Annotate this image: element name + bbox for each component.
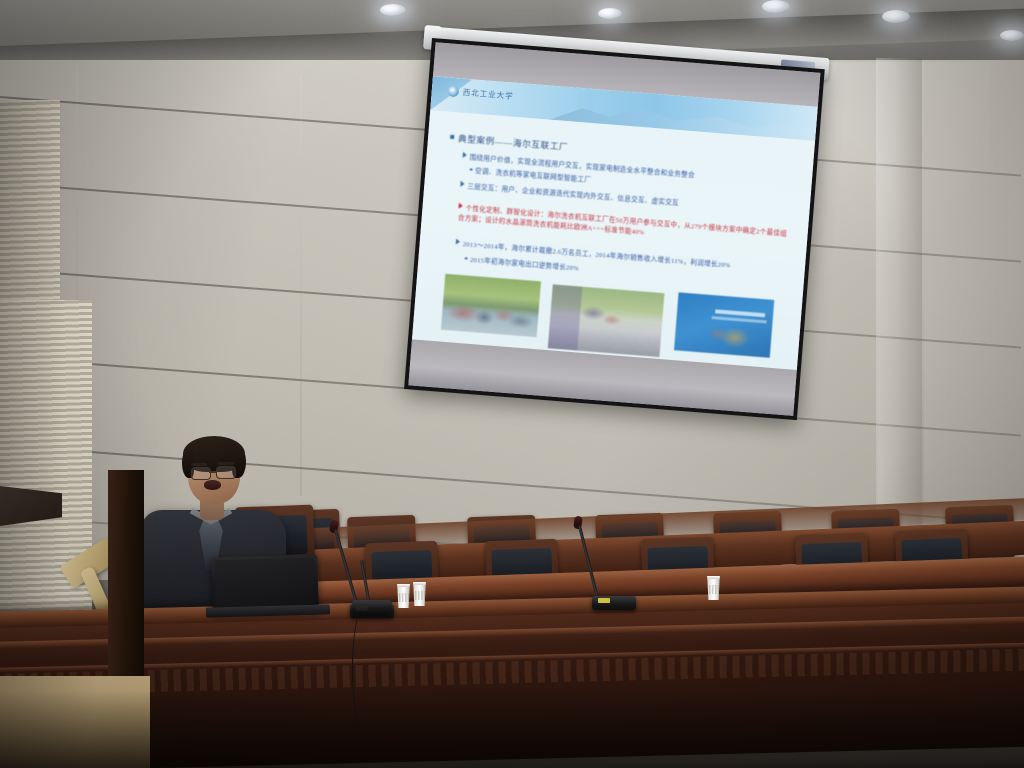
slide-photo-field — [441, 274, 541, 337]
projection-screen: 西北工业大学 典型案例——海尔互联工厂 围绕用户价值，实现全流程用户交互，实现家… — [404, 38, 825, 420]
university-seal-icon — [447, 85, 459, 97]
gooseneck-microphone-center — [572, 516, 632, 612]
presenter-mouth — [204, 480, 221, 490]
downlight-3 — [762, 0, 790, 13]
downlight-5 — [1000, 30, 1024, 41]
glasses-lens-left — [191, 467, 211, 480]
square-bullet-icon — [450, 135, 454, 139]
microphone-cable — [352, 604, 379, 734]
triangle-bullet-icon — [456, 239, 460, 245]
floor-shading — [0, 676, 150, 768]
slide-photo-blue-poster — [674, 292, 774, 357]
front-desk — [0, 586, 1024, 768]
paper-cup-3 — [706, 576, 721, 600]
glasses-bridge-icon — [209, 471, 217, 473]
slide-heading: 典型案例——海尔互联工厂 — [450, 132, 569, 153]
gooseneck-microphone-right — [346, 560, 400, 618]
paper-cup-1 — [396, 584, 411, 608]
paper-cup-2 — [412, 582, 427, 606]
downlight-4 — [882, 10, 910, 23]
lecture-hall-photo: 西北工业大学 典型案例——海尔互联工厂 围绕用户价值，实现全流程用户交互，实现家… — [0, 0, 1024, 768]
presenter-eyebrow-left — [191, 463, 207, 466]
dot-bullet-icon — [470, 168, 473, 171]
slide-bullet-3: 三层交互：用户、企业和资源迭代实现内外交互、信息交互、虚实交互 — [460, 180, 679, 207]
downlight-2 — [598, 8, 622, 19]
dot-bullet-icon — [465, 257, 468, 260]
triangle-bullet-icon — [463, 152, 467, 158]
triangle-bullet-icon — [459, 203, 463, 209]
projected-slide: 西北工业大学 典型案例——海尔互联工厂 围绕用户价值，实现全流程用户交互，实现家… — [412, 76, 818, 370]
triangle-bullet-icon — [460, 181, 464, 187]
presenter-eyebrow-right — [218, 462, 234, 465]
glasses-lens-right — [216, 466, 236, 479]
slide-photo-factory-line — [548, 284, 665, 357]
screen-surface: 西北工业大学 典型案例——海尔互联工厂 围绕用户价值，实现全流程用户交互，实现家… — [408, 42, 820, 416]
slide-bullet-6: 2015年初海尔家电出口逆势增长20% — [464, 253, 579, 272]
downlight-1 — [380, 4, 406, 16]
